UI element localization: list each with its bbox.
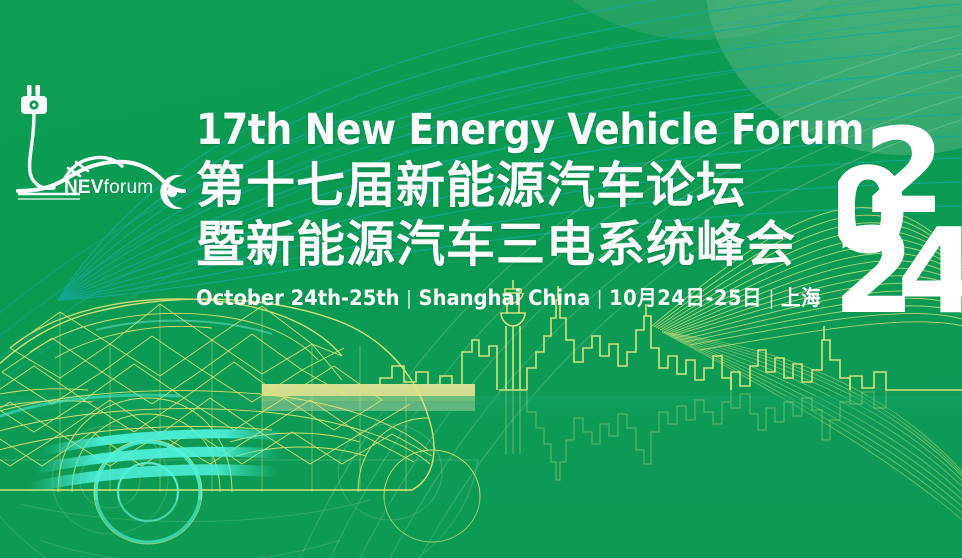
date-chinese: 10月24日-25日 — [609, 286, 762, 310]
nevforum-logo[interactable] — [8, 72, 198, 222]
logo-text-forum: forum — [104, 177, 154, 198]
title-chinese-line1: 第十七届新能源汽车论坛 — [196, 156, 846, 215]
year-2024-graphic: 2 0 2 4 — [838, 106, 962, 322]
logo-wordmark: NEVforum — [64, 178, 153, 197]
location-english: Shanghai China — [419, 286, 591, 310]
year-digit-bottom-right: 4 — [897, 202, 962, 322]
separator-3: | — [762, 287, 781, 309]
charging-plug-icon — [21, 85, 47, 114]
date-english: October 24th-25th — [196, 286, 400, 310]
location-chinese: 上海 — [781, 286, 821, 310]
event-details: October 24th-25th|Shanghai China|10月24日-… — [196, 285, 801, 312]
title-english: 17th New Energy Vehicle Forum — [196, 104, 768, 156]
separator-1: | — [400, 287, 419, 309]
year-artwork: 2 0 2 4 — [838, 106, 962, 322]
separator-2: | — [590, 287, 609, 309]
logo-artwork — [8, 72, 198, 222]
title-chinese-line2: 暨新能源汽车三电系统峰会 — [196, 215, 846, 274]
logo-text-nev: NEV — [64, 177, 104, 198]
charging-cable — [30, 114, 54, 188]
title-block: 17th New Energy Vehicle Forum 第十七届新能源汽车论… — [196, 104, 846, 312]
event-poster: NEVforum 17th New Energy Vehicle Forum 第… — [0, 0, 962, 558]
